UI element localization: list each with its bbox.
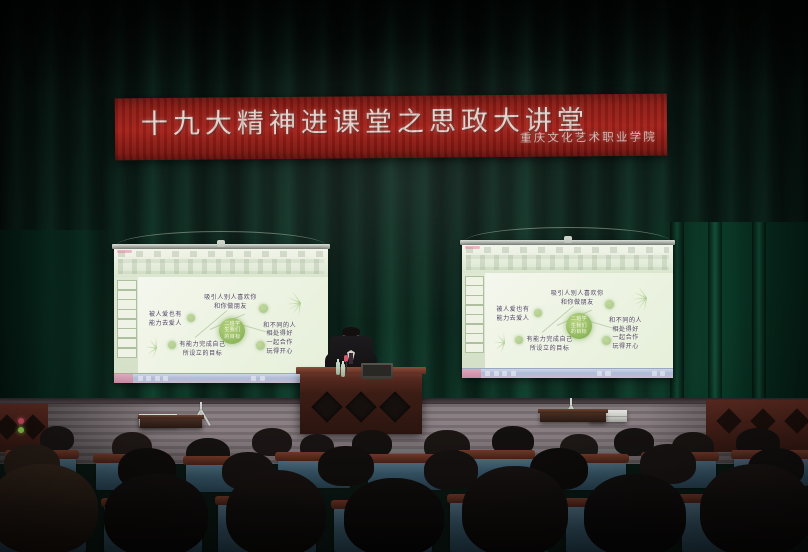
- app-ribbon: [114, 249, 328, 278]
- laptop-screen: [363, 365, 391, 376]
- ribbon-icons: [466, 255, 669, 270]
- decor-burst-topright: [632, 284, 660, 312]
- seated-audience: [0, 404, 808, 552]
- water-bottle: [341, 364, 345, 377]
- slide-canvas-left: 吸引人别人喜欢你和你做朋友 被人爱也有能力去爱人 和不同的人相处得好一起合作玩得…: [138, 277, 328, 374]
- slide-canvas-right: 吸引人别人喜欢你和你做朋友 被人爱也有能力去爱人 和不同的人相处得好一起合作玩得…: [485, 273, 673, 369]
- ribbon-icons: [118, 259, 323, 274]
- screen-surface-right: 吸引人别人喜欢你和你做朋友 被人爱也有能力去爱人 和不同的人相处得好一起合作玩得…: [462, 245, 673, 378]
- audience-head-foreground: [104, 474, 208, 552]
- presenter-laptop: [361, 363, 393, 379]
- screen-knob: [217, 240, 225, 247]
- os-taskbar[interactable]: [114, 373, 328, 383]
- audience-head: [318, 446, 374, 486]
- ribbon-tabs: [466, 247, 669, 253]
- screen-surface-left: 吸引人别人喜欢你和你做朋友 被人爱也有能力去爱人 和不同的人相处得好一起合作玩得…: [114, 249, 328, 383]
- slide-text-right: 和不同的人相处得好一起合作玩得开心: [609, 317, 642, 352]
- screen-knob: [564, 236, 572, 243]
- slide-center-node: 二班学生我们的目标: [219, 318, 245, 344]
- presenter-hair: [342, 327, 360, 336]
- slide-text-bottom: 有能力完成自己所设立的目标: [527, 336, 573, 353]
- app-ribbon: [462, 245, 673, 274]
- slide-center-node: 二班学生我们的目标: [566, 313, 592, 339]
- decor-burst-bottomleft: [145, 337, 167, 359]
- banner-subtitle: 重庆文化艺术职业学院: [520, 129, 657, 146]
- decor-burst-topright: [286, 289, 314, 317]
- presenter-tie: [349, 353, 353, 364]
- slide-text-right: 和不同的人相处得好一起合作玩得开心: [263, 322, 296, 357]
- slide-text-top: 吸引人别人喜欢你和你做朋友: [551, 290, 604, 307]
- os-taskbar[interactable]: [462, 368, 673, 378]
- ribbon-tabs: [118, 251, 323, 257]
- slide-text-top: 吸引人别人喜欢你和你做朋友: [204, 294, 257, 311]
- start-button[interactable]: [462, 369, 481, 378]
- start-button[interactable]: [114, 374, 133, 383]
- slide-thumbnail-pane[interactable]: [114, 277, 139, 374]
- microphone-stem: [346, 361, 347, 373]
- slide-thumbnail-pane[interactable]: [462, 273, 486, 369]
- audience-head-foreground: [700, 464, 808, 552]
- slide-text-left: 被人爱也有能力去爱人: [496, 306, 529, 323]
- event-banner: 十九大精神进课堂之思政大讲堂 重庆文化艺术职业学院: [115, 94, 668, 161]
- slide-text-left: 被人爱也有能力去爱人: [149, 311, 182, 328]
- audience-head-foreground: [344, 478, 444, 552]
- auditorium-photo: 十九大精神进课堂之思政大讲堂 重庆文化艺术职业学院: [0, 0, 808, 552]
- slide-app-right: 吸引人别人喜欢你和你做朋友 被人爱也有能力去爱人 和不同的人相处得好一起合作玩得…: [462, 245, 673, 378]
- audience-head-foreground: [0, 464, 98, 552]
- decor-burst-bottomleft: [493, 332, 515, 354]
- audience-head-foreground: [584, 474, 686, 552]
- slide-text-bottom: 有能力完成自己所设立的目标: [179, 341, 225, 358]
- banner-title: 十九大精神进课堂之思政大讲堂: [141, 98, 651, 141]
- water-bottle: [336, 362, 340, 375]
- indicator-lights: [18, 418, 26, 440]
- slide-app-left: 吸引人别人喜欢你和你做朋友 被人爱也有能力去爱人 和不同的人相处得好一起合作玩得…: [114, 249, 328, 383]
- audience-head-foreground: [226, 470, 326, 552]
- audience-head-foreground: [462, 466, 568, 552]
